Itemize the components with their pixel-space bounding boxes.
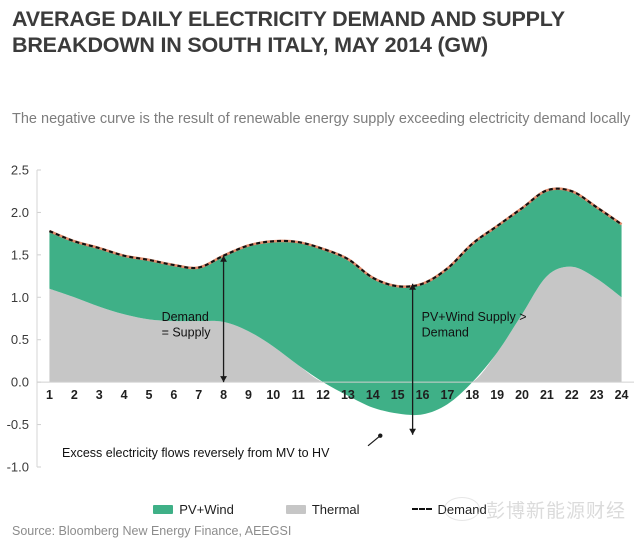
y-axis-tick-labels: 2.52.01.51.00.50.0-0.5-1.0 (7, 163, 29, 475)
annotation-leader-arrowhead (378, 433, 382, 437)
y-tick-2: 1.5 (11, 247, 29, 262)
x-axis-tick-labels: 123456789101112131415161718192021222324 (46, 388, 629, 402)
y-gridlines (37, 170, 41, 467)
source-note: Source: Bloomberg New Energy Finance, AE… (12, 524, 291, 538)
legend-item-thermal: Thermal (286, 502, 360, 517)
annotation-leader-line (368, 436, 380, 446)
chart-legend: PV+Wind Thermal Demand (0, 498, 640, 520)
annotation-pvwind-exceeds-demand-line2: Demand (422, 325, 469, 339)
legend-item-demand: Demand (412, 502, 487, 517)
x-tick-5: 5 (145, 388, 152, 402)
x-tick-22: 22 (565, 388, 579, 402)
x-tick-7: 7 (195, 388, 202, 402)
x-tick-3: 3 (96, 388, 103, 402)
x-tick-19: 19 (490, 388, 504, 402)
annotation-demand-equals-supply-line1: Demand (162, 310, 209, 324)
y-tick-4: 0.5 (11, 332, 29, 347)
legend-dashed-line-demand-icon (412, 508, 432, 510)
annotation-pvwind-exceeds-demand-line1: PV+Wind Supply > (422, 310, 527, 324)
y-tick-1: 2.0 (11, 205, 29, 220)
y-tick-5: 0.0 (11, 375, 29, 390)
annotation-excess-electricity-note: Excess electricity flows reversely from … (62, 446, 330, 460)
x-tick-2: 2 (71, 388, 78, 402)
x-tick-8: 8 (220, 388, 227, 402)
x-tick-10: 10 (266, 388, 280, 402)
annotation-demand-equals-supply-line2: = Supply (162, 325, 212, 339)
x-tick-16: 16 (416, 388, 430, 402)
stacked-area-series (49, 189, 621, 415)
x-tick-4: 4 (121, 388, 128, 402)
x-tick-15: 15 (391, 388, 405, 402)
x-tick-21: 21 (540, 388, 554, 402)
y-tick-6: -0.5 (7, 417, 29, 432)
page-title: AVERAGE DAILY ELECTRICITY DEMAND AND SUP… (12, 6, 628, 58)
x-tick-9: 9 (245, 388, 252, 402)
x-tick-24: 24 (615, 388, 629, 402)
y-tick-3: 1.0 (11, 290, 29, 305)
x-tick-6: 6 (170, 388, 177, 402)
chart-container: 2.52.01.51.00.50.0-0.5-1.0 1234567891011… (0, 160, 640, 500)
x-tick-18: 18 (465, 388, 479, 402)
electricity-supply-demand-area-chart: 2.52.01.51.00.50.0-0.5-1.0 1234567891011… (0, 160, 640, 500)
x-tick-20: 20 (515, 388, 529, 402)
y-tick-0: 2.5 (11, 163, 29, 178)
chart-page: AVERAGE DAILY ELECTRICITY DEMAND AND SUP… (0, 0, 640, 546)
y-tick-7: -1.0 (7, 460, 29, 475)
legend-label-thermal: Thermal (312, 502, 360, 517)
x-tick-12: 12 (316, 388, 330, 402)
legend-swatch-thermal-icon (286, 505, 306, 514)
x-tick-1: 1 (46, 388, 53, 402)
page-subtitle: The negative curve is the result of rene… (12, 108, 636, 130)
legend-label-pv-wind: PV+Wind (179, 502, 234, 517)
x-tick-17: 17 (440, 388, 454, 402)
legend-swatch-pv-wind-icon (153, 505, 173, 514)
x-tick-23: 23 (590, 388, 604, 402)
x-tick-13: 13 (341, 388, 355, 402)
legend-item-pv-wind: PV+Wind (153, 502, 234, 517)
x-tick-14: 14 (366, 388, 380, 402)
x-tick-11: 11 (292, 388, 305, 402)
measure-arrowhead-1-1 (409, 429, 416, 435)
legend-label-demand: Demand (438, 502, 487, 517)
